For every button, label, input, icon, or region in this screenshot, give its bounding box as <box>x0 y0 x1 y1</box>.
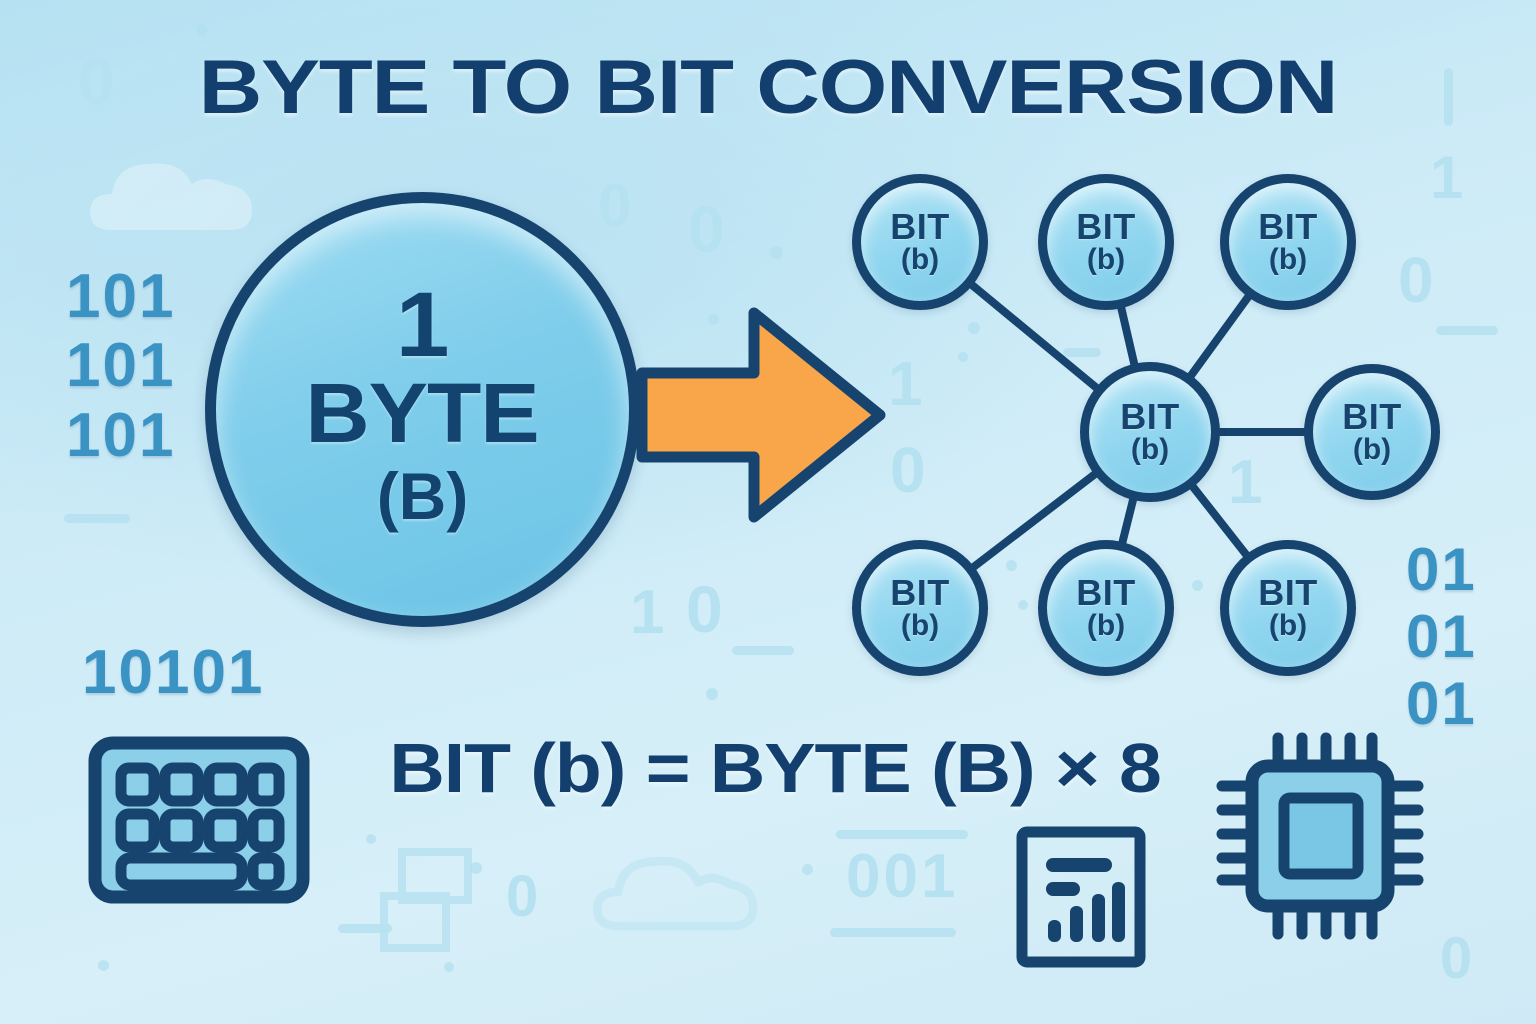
faint-dot <box>366 834 376 844</box>
bit-node-label: BIT <box>1120 399 1180 434</box>
bit-node-sublabel: (b) <box>1087 610 1125 642</box>
binary-line: 101 <box>66 331 175 400</box>
faint-dash <box>64 514 130 523</box>
byte-circle-number: 1 <box>396 282 450 369</box>
faint-dash <box>830 928 956 937</box>
bit-node-label: BIT <box>890 575 950 610</box>
bit-node-top-right[interactable]: BIT (b) <box>1220 174 1356 310</box>
keyboard-icon <box>88 736 310 904</box>
binary-left-stack: 101 101 101 <box>66 262 175 470</box>
bit-node-sublabel: (b) <box>1131 434 1169 466</box>
faint-dot <box>802 864 813 875</box>
cloud-icon <box>586 836 776 946</box>
faint-digit: 0 <box>598 176 631 236</box>
faint-digit: 0 <box>1440 930 1472 988</box>
bit-node-sublabel: (b) <box>1087 244 1125 276</box>
bit-node-right[interactable]: BIT (b) <box>1304 364 1440 500</box>
faint-digit: 0 <box>688 196 725 262</box>
bit-node-label: BIT <box>890 209 950 244</box>
bit-node-label: BIT <box>1342 399 1402 434</box>
bit-node-bottom-left[interactable]: BIT (b) <box>852 540 988 676</box>
faint-digit: 0 <box>506 868 538 926</box>
cloud-icon <box>80 138 280 248</box>
byte-circle: 1 BYTE (B) <box>205 192 640 627</box>
bit-node-sublabel: (b) <box>1353 434 1391 466</box>
bit-node-label: BIT <box>1076 575 1136 610</box>
faint-dash <box>836 830 968 839</box>
page-title: BYTE TO BIT CONVERSION <box>0 44 1536 131</box>
infographic-canvas: 0 0 0 1 0 1 1 0 1 0 0 0 001 <box>0 0 1536 1024</box>
cpu-chip-icon <box>1212 730 1428 942</box>
faint-digit: 0 <box>686 576 723 642</box>
bit-node-sublabel: (b) <box>901 244 939 276</box>
binary-left-lower: 10101 <box>82 638 264 707</box>
bit-node-sublabel: (b) <box>1269 244 1307 276</box>
faint-digit-group: 001 <box>846 846 958 908</box>
bit-node-sublabel: (b) <box>1269 610 1307 642</box>
bit-node-bottom-right[interactable]: BIT (b) <box>1220 540 1356 676</box>
faint-dot <box>770 246 783 259</box>
bit-node-top-center[interactable]: BIT (b) <box>1038 174 1174 310</box>
bit-node-sublabel: (b) <box>901 610 939 642</box>
bit-node-label: BIT <box>1076 209 1136 244</box>
bit-network: BIT (b) BIT (b) BIT (b) BIT (b) BIT (b) … <box>820 160 1480 700</box>
document-chart-icon <box>1012 824 1150 970</box>
binary-line: 101 <box>66 401 175 470</box>
faint-dash <box>338 924 392 933</box>
bit-node-top-left[interactable]: BIT (b) <box>852 174 988 310</box>
bit-node-label: BIT <box>1258 575 1318 610</box>
faint-dot <box>470 862 482 874</box>
bit-node-bottom-center[interactable]: BIT (b) <box>1038 540 1174 676</box>
faint-dot <box>444 962 454 972</box>
bit-node-label: BIT <box>1258 209 1318 244</box>
binary-line: 101 <box>66 262 175 331</box>
faint-dot <box>706 688 718 700</box>
bit-node-center[interactable]: BIT (b) <box>1080 362 1220 502</box>
faint-digit: 1 <box>630 582 664 644</box>
conversion-formula: BIT (b) = BYTE (B) × 8 <box>313 728 1237 808</box>
faint-dot <box>98 960 109 971</box>
byte-circle-symbol: (B) <box>377 455 469 538</box>
faint-dash <box>732 646 794 655</box>
blocks-icon <box>378 838 496 960</box>
faint-dot <box>196 24 208 36</box>
byte-circle-word: BYTE <box>306 371 539 455</box>
